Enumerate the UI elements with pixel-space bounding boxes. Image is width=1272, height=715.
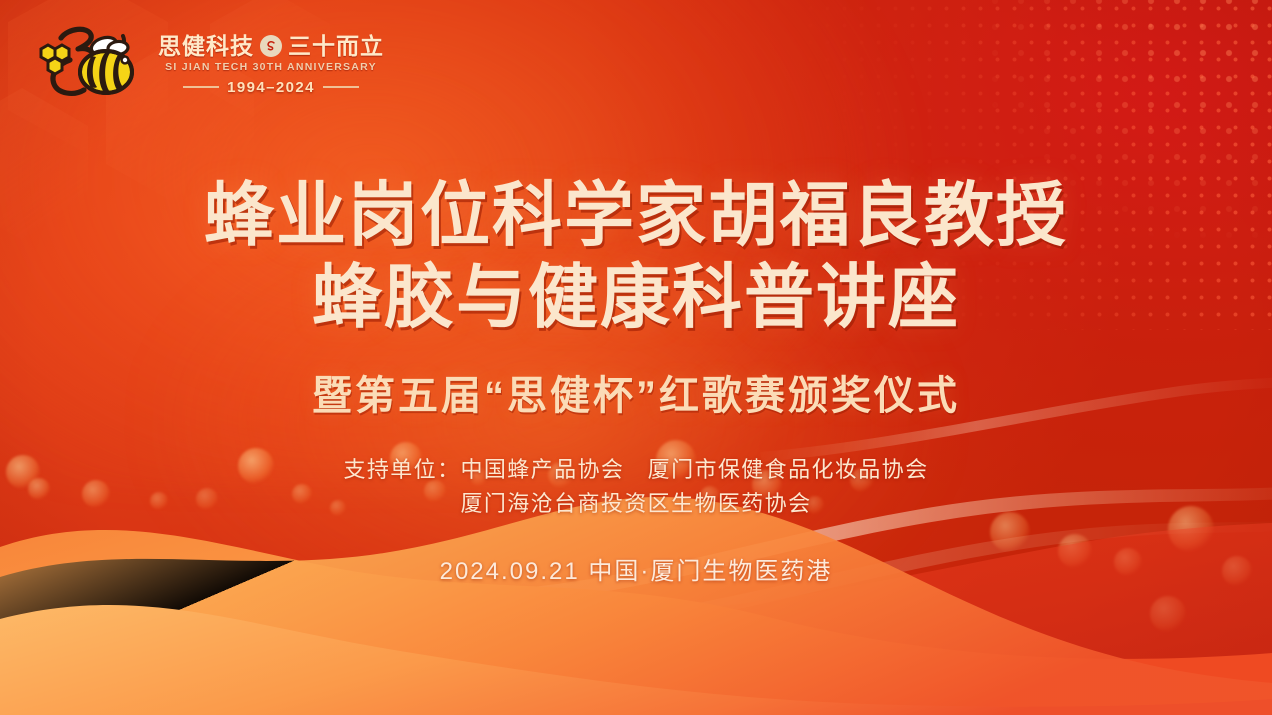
bee-honeycomb-30-icon <box>30 16 148 110</box>
logo-anniversary-cn: 三十而立 <box>288 35 384 58</box>
banner-content: 蜂业岗位科学家胡福良教授 蜂胶与健康科普讲座 暨第五届“思健杯”红歌赛颁奖仪式 … <box>0 176 1272 586</box>
s-swirl-icon <box>260 35 282 57</box>
event-banner: 思健科技 三十而立 SI JIAN TECH 30TH ANNIVERSARY … <box>0 0 1272 715</box>
logo-years-line: 1994–2024 <box>183 79 359 96</box>
logo-chinese-line: 思健科技 三十而立 <box>158 35 384 58</box>
brand-logo: 思健科技 三十而立 SI JIAN TECH 30TH ANNIVERSARY … <box>30 16 384 110</box>
logo-text-block: 思健科技 三十而立 SI JIAN TECH 30TH ANNIVERSARY … <box>158 31 384 96</box>
logo-brand-cn: 思健科技 <box>158 35 254 58</box>
banner-title-line-2: 蜂胶与健康科普讲座 <box>0 258 1272 336</box>
event-date-location: 2024.09.21 中国·厦门生物医药港 <box>0 551 1272 586</box>
rule-left <box>183 86 219 88</box>
banner-subtitle: 暨第五届“思健杯”红歌赛颁奖仪式 <box>0 363 1272 421</box>
logo-years-text: 1994–2024 <box>227 79 315 96</box>
rule-right <box>323 86 359 88</box>
supporting-organizations-line-1: 支持单位：中国蜂产品协会 厦门市保健食品化妆品协会 <box>0 453 1272 487</box>
banner-title-line-1: 蜂业岗位科学家胡福良教授 <box>0 176 1272 254</box>
logo-english-line: SI JIAN TECH 30TH ANNIVERSARY <box>165 61 377 73</box>
supporting-organizations-line-2: 厦门海沧台商投资区生物医药协会 <box>0 487 1272 521</box>
supporting-organizations: 支持单位：中国蜂产品协会 厦门市保健食品化妆品协会 厦门海沧台商投资区生物医药协… <box>0 453 1272 521</box>
